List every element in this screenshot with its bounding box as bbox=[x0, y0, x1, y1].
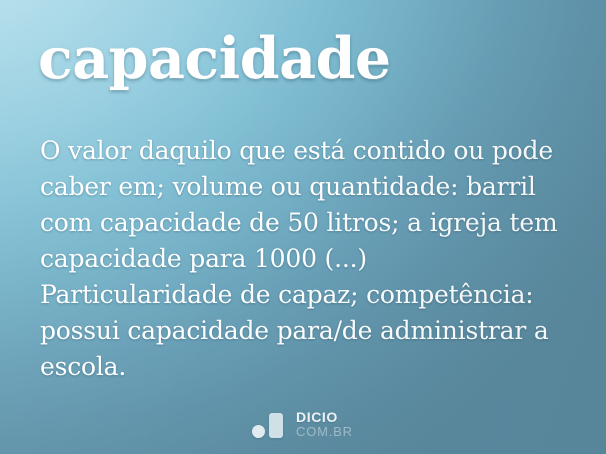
logo-circle-icon bbox=[252, 425, 265, 438]
definition-line: com capacidade de 50 litros; a igreja te… bbox=[40, 205, 560, 241]
definition-line: possui capacidade para/de administrar a bbox=[40, 313, 560, 349]
logo-bar-icon bbox=[269, 413, 283, 438]
definition-line: Particularidade de capaz; competência: bbox=[40, 277, 560, 313]
dictionary-definition-card: capacidade O valor daquilo que está cont… bbox=[0, 0, 606, 454]
definition-line: caber em; volume ou quantidade: barril bbox=[40, 169, 560, 205]
definition-line: O valor daquilo que está contido ou pode bbox=[40, 133, 560, 169]
logo-mark-icon bbox=[252, 410, 287, 440]
page-title: capacidade bbox=[38, 26, 391, 92]
definition-line: escola. bbox=[40, 349, 560, 385]
logo-domain: COM.BR bbox=[296, 425, 353, 439]
definition-line: capacidade para 1000 (...) bbox=[40, 241, 560, 277]
dicio-logo: DICIO COM.BR bbox=[252, 410, 353, 440]
logo-wordmark: DICIO COM.BR bbox=[296, 410, 353, 440]
logo-name: DICIO bbox=[296, 410, 353, 425]
definition-text: O valor daquilo que está contido ou pode… bbox=[40, 133, 560, 385]
